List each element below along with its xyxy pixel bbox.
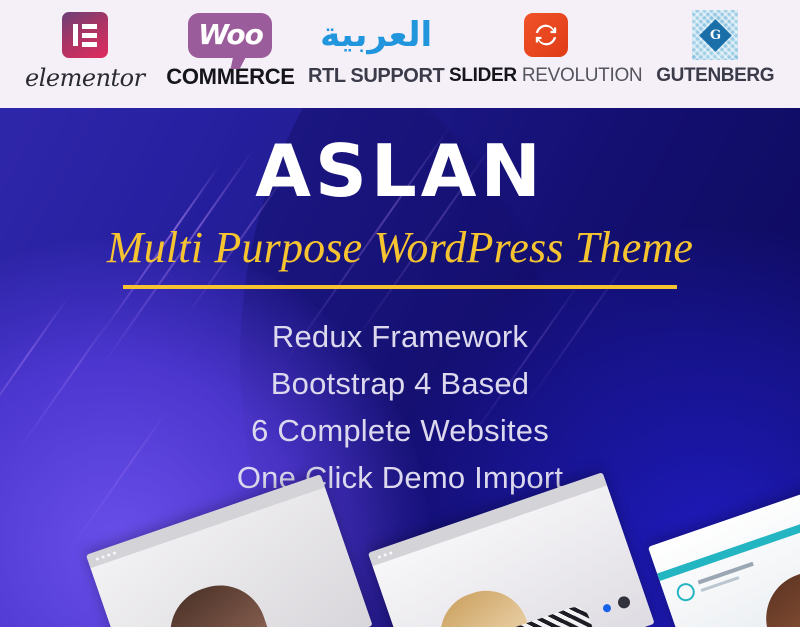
plugin-item-rtl-support[interactable]: العربية RTL SUPPORT [303, 8, 449, 86]
theme-promo-banner: elementor Woo COMMERCE العربية RTL SUPPO… [0, 0, 800, 627]
feature-list-item: 6 Complete Websites [0, 407, 800, 454]
plugin-label-rtl-support: RTL SUPPORT [308, 66, 444, 86]
slider-revolution-label-light: REVOLUTION [522, 65, 643, 86]
woocommerce-mark-text: Woo [198, 21, 263, 49]
plugin-item-woocommerce[interactable]: Woo COMMERCE [158, 8, 304, 88]
plugin-label-woocommerce: COMMERCE [166, 66, 294, 88]
title-divider [123, 285, 677, 289]
demo-site-mockups [0, 537, 800, 627]
slider-revolution-label-bold: SLIDER [449, 65, 517, 86]
arabic-word-text: العربية [320, 18, 432, 52]
elementor-logo-icon [62, 8, 108, 62]
page-title: ASLAN [0, 135, 800, 207]
plugin-label-slider-revolution: SLIDER REVOLUTION [449, 66, 642, 85]
plugin-item-gutenberg[interactable]: G GUTENBERG [642, 8, 788, 85]
hero-subtitle: Multi Purpose WordPress Theme [0, 225, 800, 271]
feature-list-item: Bootstrap 4 Based [0, 360, 800, 407]
hero-copy: ASLAN Multi Purpose WordPress Theme Redu… [0, 108, 800, 501]
plugin-label-elementor: elementor [25, 66, 145, 90]
plugin-label-gutenberg: GUTENBERG [656, 66, 774, 85]
arabic-script-icon: العربية [320, 8, 432, 62]
woocommerce-logo-icon: Woo [188, 8, 272, 62]
plugin-compatibility-bar: elementor Woo COMMERCE العربية RTL SUPPO… [0, 0, 800, 108]
slider-revolution-refresh-icon [524, 8, 568, 62]
hero-section: ASLAN Multi Purpose WordPress Theme Redu… [0, 108, 800, 627]
gutenberg-logo-icon: G [692, 8, 738, 62]
feature-list: Redux Framework Bootstrap 4 Based 6 Comp… [0, 313, 800, 501]
plugin-item-elementor[interactable]: elementor [12, 8, 158, 90]
plugin-item-slider-revolution[interactable]: SLIDER REVOLUTION [449, 8, 642, 85]
feature-list-item: Redux Framework [0, 313, 800, 360]
feature-list-item: One Click Demo Import [0, 454, 800, 501]
gutenberg-mark-text: G [710, 27, 721, 42]
